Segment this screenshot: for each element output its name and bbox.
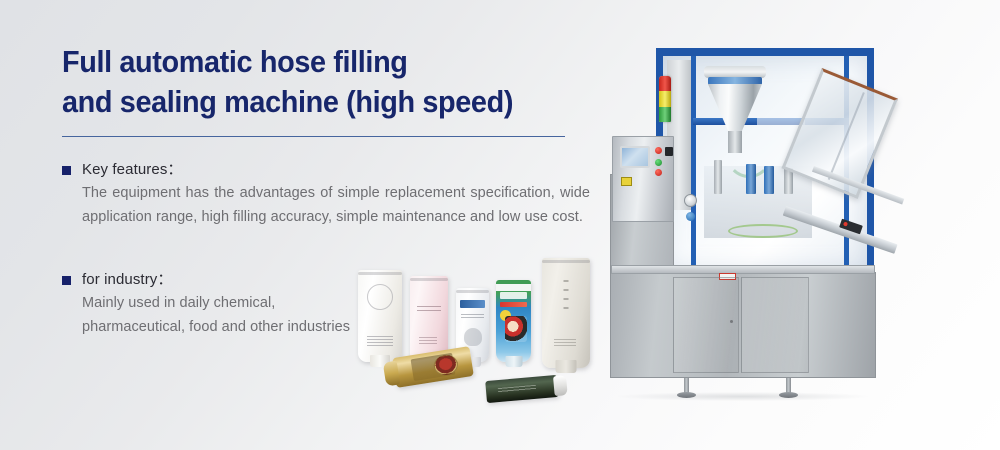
stainless-base-cabinet (610, 272, 876, 378)
stop-button (655, 169, 662, 176)
headline-block: Full automatic hose filling and sealing … (62, 42, 582, 122)
headline-line-1: Full automatic hose filling (62, 42, 546, 82)
feature-block-for-industry: for industry： Mainly used in daily chemi… (62, 270, 592, 339)
dark-green-tube (485, 375, 559, 403)
hmi-touchscreen (620, 146, 650, 168)
feature-body: The equipment has the advantages of simp… (82, 182, 590, 229)
bullet-row: Key features： (62, 160, 592, 180)
turret-index-plate (728, 224, 798, 238)
stack-light-green (659, 107, 671, 122)
gold-ornate-tube (392, 346, 474, 388)
warning-label-icon (621, 177, 632, 186)
ground-shadow (618, 392, 868, 401)
cabinet-door (741, 277, 809, 373)
filling-nozzle (714, 160, 722, 194)
feature-block-key-features: Key features： The equipment has the adva… (62, 160, 592, 229)
filling-nozzle (746, 164, 756, 194)
selector-switch (665, 147, 673, 156)
signal-stack-light-icon (659, 76, 671, 122)
feature-label: Key features： (82, 160, 183, 180)
tube-text-block (498, 385, 536, 393)
filling-nozzle (764, 166, 774, 194)
tube-cap (383, 361, 401, 387)
regulator-knob (686, 212, 695, 221)
square-bullet-icon (62, 166, 71, 175)
start-button (655, 159, 662, 166)
cabinet-worktop (611, 265, 875, 274)
hmi-control-panel (612, 136, 674, 222)
hopper-clamp-ring (708, 77, 762, 85)
page-title: Full automatic hose filling and sealing … (62, 42, 546, 122)
feature-label: for industry： (82, 270, 173, 290)
stack-light-yellow (659, 91, 671, 106)
stack-light-red (659, 76, 671, 91)
bullet-row: for industry： (62, 270, 592, 290)
emergency-stop-button (655, 147, 662, 154)
tube-cap (556, 360, 577, 373)
pressure-gauge (684, 194, 697, 207)
machine-photo (608, 28, 908, 400)
door-latch (730, 320, 733, 323)
square-bullet-icon (62, 276, 71, 285)
product-banner: Full automatic hose filling and sealing … (0, 0, 1000, 450)
tube-text-block (554, 339, 576, 348)
indicator-lamp-icon (843, 222, 848, 227)
tube-cap (553, 375, 568, 396)
tube-cap (505, 356, 522, 367)
feature-body: Mainly used in daily chemical, pharmaceu… (82, 292, 360, 339)
frame-post-left (691, 56, 696, 271)
title-divider (62, 136, 565, 137)
features-list: Key features： The equipment has the adva… (62, 160, 592, 339)
cabinet-door (673, 277, 739, 373)
frame-brand-label (757, 118, 805, 125)
headline-line-2: and sealing machine (high speed) (62, 82, 546, 122)
